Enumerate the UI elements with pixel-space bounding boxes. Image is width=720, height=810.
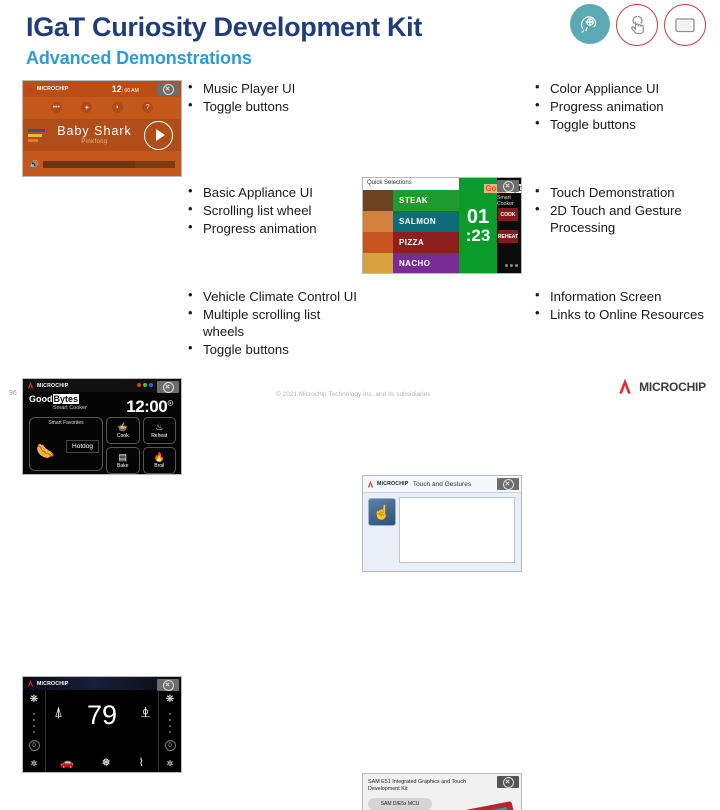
bluetooth-icon[interactable]: ✦: [81, 102, 92, 113]
list-item: 2D Touch and Gesture Processing: [533, 202, 719, 236]
list-item[interactable]: SALMON: [363, 211, 459, 232]
microchip-wordmark: MICROCHIP: [37, 86, 68, 92]
page-subtitle: Advanced Demonstrations: [26, 48, 252, 69]
list-item[interactable]: STEAK: [363, 190, 459, 211]
quick-selections-label: Quick Selections: [363, 178, 459, 190]
bullets-music-player: Music Player UI Toggle buttons: [186, 80, 362, 116]
close-button[interactable]: [497, 478, 519, 490]
favorite-item[interactable]: Hotdog: [66, 440, 99, 453]
status-dots: [137, 383, 153, 387]
list-item: Vehicle Climate Control UI: [186, 288, 362, 305]
bullets-touch-demo: Touch Demonstration 2D Touch and Gesture…: [533, 184, 719, 237]
smart-favorites-label: Smart Favorites: [30, 418, 102, 427]
list-item: Toggle buttons: [186, 341, 362, 358]
fan-icon[interactable]: ❋: [30, 694, 38, 705]
left-fan-wheel[interactable]: ❋ 0 ✲: [23, 690, 45, 772]
info-link-list[interactable]: SAM D/E5x MCU Hardware Software Online R…: [368, 798, 432, 810]
smart-cooker-screen: MICROCHIP GoodBytes Smart Cooker 12:00☉ …: [23, 379, 181, 474]
microchip-logo: MICROCHIP: [26, 679, 68, 688]
microchip-mark-icon: [615, 377, 635, 397]
music-player-clock: 12: 00 AM: [112, 84, 139, 94]
smart-cooker-statusbar: MICROCHIP: [23, 379, 181, 392]
climate-control-screen: MICROCHIP ❋ 0 ✲ ⍋ 79 ⍎ 🚗 ❅: [23, 677, 181, 772]
gesture-hand-icon[interactable]: ☝: [368, 498, 396, 526]
list-item: Toggle buttons: [533, 116, 719, 133]
microchip-mark-icon: [26, 679, 35, 688]
appliance-subtitle: Smart Cooker: [497, 195, 518, 207]
touch-hand-icon: [616, 4, 658, 46]
list-item: Progress animation: [533, 98, 719, 115]
food-thumbnail: [363, 232, 393, 253]
list-item: Scrolling list wheel: [186, 202, 362, 219]
reheat-button[interactable]: REHEAT: [498, 230, 518, 243]
panel-music-player[interactable]: MICROCHIP 12: 00 AM ••• ✦ ◗ ? Baby Shark: [22, 80, 182, 177]
music-player-toggle-row[interactable]: ••• ✦ ◗ ?: [23, 97, 181, 113]
bullets-basic-appliance: Basic Appliance UI Scrolling list wheel …: [186, 184, 362, 238]
defrost-car-icon[interactable]: 🚗: [60, 756, 74, 769]
list-item: Links to Online Resources: [533, 306, 719, 323]
close-button[interactable]: [497, 180, 519, 192]
bullets-color-appliance: Color Appliance UI Progress animation To…: [533, 80, 719, 134]
climate-body: ❋ 0 ✲ ⍋ 79 ⍎ 🚗 ❅ ⌇ ❋: [23, 690, 181, 772]
microchip-logo: MICROCHIP: [26, 381, 68, 390]
slide-root: IGaT Curiosity Development Kit Advanced …: [0, 0, 720, 405]
cooker-mode-grid[interactable]: 🍲 Cook ♨ Reheat ▤ Bake 🔥 Broil: [106, 417, 176, 474]
panel-color-appliance[interactable]: Quick Selections STEAK SALMON PIZZA NACH…: [362, 177, 522, 274]
brain-head-icon: [570, 4, 610, 44]
play-button[interactable]: [144, 121, 173, 150]
right-fan-wheel[interactable]: ❋ 0 ✲: [159, 690, 181, 772]
list-item: Touch Demonstration: [533, 184, 719, 201]
reheat-icon: ♨: [155, 423, 163, 432]
panel-touch-demo[interactable]: MICROCHIP Touch and Gestures ☝: [362, 475, 522, 572]
touch-gestures-screen: MICROCHIP Touch and Gestures ☝: [363, 476, 521, 571]
temperature-zone[interactable]: ⍋ 79 ⍎ 🚗 ❅ ⌇: [45, 690, 159, 772]
snowflake-icon[interactable]: ✲: [167, 759, 174, 768]
microchip-wordmark: MICROCHIP: [37, 681, 68, 687]
volume-control[interactable]: 🔊: [29, 160, 175, 169]
panel-vehicle-climate[interactable]: MICROCHIP ❋ 0 ✲ ⍋ 79 ⍎ 🚗 ❅: [22, 676, 182, 773]
smart-favorites-panel[interactable]: Smart Favorites 🌭 Hotdog: [29, 417, 103, 471]
list-item: Information Screen: [533, 288, 719, 305]
list-item[interactable]: PIZZA: [363, 232, 459, 253]
equalizer-icon[interactable]: [28, 129, 45, 142]
more-icon[interactable]: •••: [51, 102, 62, 113]
timer-seconds: :23: [466, 227, 491, 244]
scroll-dots: [33, 713, 35, 733]
food-thumbnail: [363, 211, 393, 232]
left-zone-value: 0: [29, 740, 40, 751]
header-icon-group: [570, 4, 706, 46]
color-appliance-screen: Quick Selections STEAK SALMON PIZZA NACH…: [363, 178, 521, 273]
close-button[interactable]: [497, 776, 519, 788]
list-item: Color Appliance UI: [533, 80, 719, 97]
climate-toggle-row[interactable]: 🚗 ❅ ⌇: [46, 756, 158, 769]
oven-icon: ▤: [118, 453, 127, 462]
microchip-wordmark: MICROCHIP: [377, 481, 408, 487]
appliance-subtitle: Smart Cooker: [53, 405, 87, 411]
hotdog-icon: 🌭: [36, 442, 55, 460]
microchip-logo: MICROCHIP: [26, 85, 68, 94]
scroll-dots: [169, 713, 171, 733]
song-title: Baby Shark: [45, 125, 144, 138]
cook-button[interactable]: COOK: [498, 208, 518, 221]
list-item: Music Player UI: [186, 80, 362, 97]
song-artist: Pinkfong: [45, 139, 144, 145]
now-playing-bar: Baby Shark Pinkfong: [23, 119, 181, 151]
panel-info-screen[interactable]: SAM E51 Integrated Graphics and Touch De…: [362, 773, 522, 810]
microchip-logo: MICROCHIP: [366, 480, 408, 489]
list-item: Multiple scrolling list wheels: [186, 306, 362, 340]
broil-button[interactable]: 🔥 Broil: [143, 447, 177, 474]
info-screen: SAM E51 Integrated Graphics and Touch De…: [363, 774, 521, 810]
bake-button[interactable]: ▤ Bake: [106, 447, 140, 474]
list-item: Basic Appliance UI: [186, 184, 362, 201]
pot-icon: 🍲: [117, 423, 128, 432]
right-zone-value: 0: [165, 740, 176, 751]
display-screen-icon: [664, 4, 706, 46]
fan-icon[interactable]: ❋: [166, 694, 174, 705]
microchip-wordmark: MICROCHIP: [639, 380, 706, 394]
page-number: 96: [9, 390, 17, 397]
grill-icon: 🔥: [154, 453, 165, 462]
microchip-mark-icon: [26, 85, 35, 94]
music-player-screen: MICROCHIP 12: 00 AM ••• ✦ ◗ ? Baby Shark: [23, 81, 181, 176]
touch-demo-statusbar: MICROCHIP Touch and Gestures: [363, 476, 521, 493]
food-thumbnail: [363, 253, 393, 274]
quick-selections-list[interactable]: STEAK SALMON PIZZA NACHO: [363, 190, 459, 273]
mcu-link-button[interactable]: SAM D/E5x MCU: [368, 798, 432, 810]
cooker-clock: 12:00☉: [126, 397, 173, 417]
reheat-button[interactable]: ♨ Reheat: [143, 417, 177, 444]
close-button[interactable]: [157, 381, 179, 393]
page-title: IGaT Curiosity Development Kit: [26, 12, 422, 43]
list-item: Progress animation: [186, 220, 362, 237]
list-item[interactable]: NACHO: [363, 253, 459, 274]
wifi-icon[interactable]: ◗: [112, 102, 123, 113]
list-item: Toggle buttons: [186, 98, 362, 115]
bullets-vehicle-climate: Vehicle Climate Control UI Multiple scro…: [186, 288, 362, 360]
panel-basic-appliance[interactable]: MICROCHIP GoodBytes Smart Cooker 12:00☉ …: [22, 378, 182, 475]
copyright-notice: © 2021 Microchip Technology Inc. and its…: [276, 391, 431, 398]
speaker-icon: 🔊: [29, 160, 39, 169]
music-player-statusbar: MICROCHIP 12: 00 AM: [23, 81, 181, 97]
cook-button[interactable]: 🍲 Cook: [106, 417, 140, 444]
passenger-seat-icon[interactable]: ⍎: [141, 704, 150, 721]
microchip-wordmark: MICROCHIP: [37, 383, 68, 389]
food-thumbnail: [363, 190, 393, 211]
color-appliance-sidebar: GoodBytes Smart Cooker COOK REHEAT: [497, 178, 521, 273]
snowflake-icon[interactable]: ✲: [31, 759, 38, 768]
progress-dots: [505, 264, 518, 267]
volume-slider[interactable]: [43, 161, 175, 168]
footer-microchip-logo: MICROCHIP: [615, 377, 706, 397]
goodbytes-logo: GoodBytes: [29, 394, 79, 404]
timer-minutes: 01: [467, 208, 489, 227]
ac-snowflake-icon[interactable]: ❅: [102, 756, 111, 769]
microchip-mark-icon: [366, 480, 375, 489]
seat-heater-icon[interactable]: ⌇: [139, 756, 144, 769]
close-button[interactable]: [157, 83, 179, 95]
gesture-canvas[interactable]: [399, 497, 515, 563]
development-board-image: ▤◷♪⌁: [435, 801, 521, 810]
info-screen-title: SAM E51 Integrated Graphics and Touch De…: [368, 779, 466, 793]
help-icon[interactable]: ?: [142, 102, 153, 113]
climate-statusbar: MICROCHIP: [23, 677, 181, 690]
bullets-info-screen: Information Screen Links to Online Resou…: [533, 288, 719, 324]
microchip-mark-icon: [26, 381, 35, 390]
